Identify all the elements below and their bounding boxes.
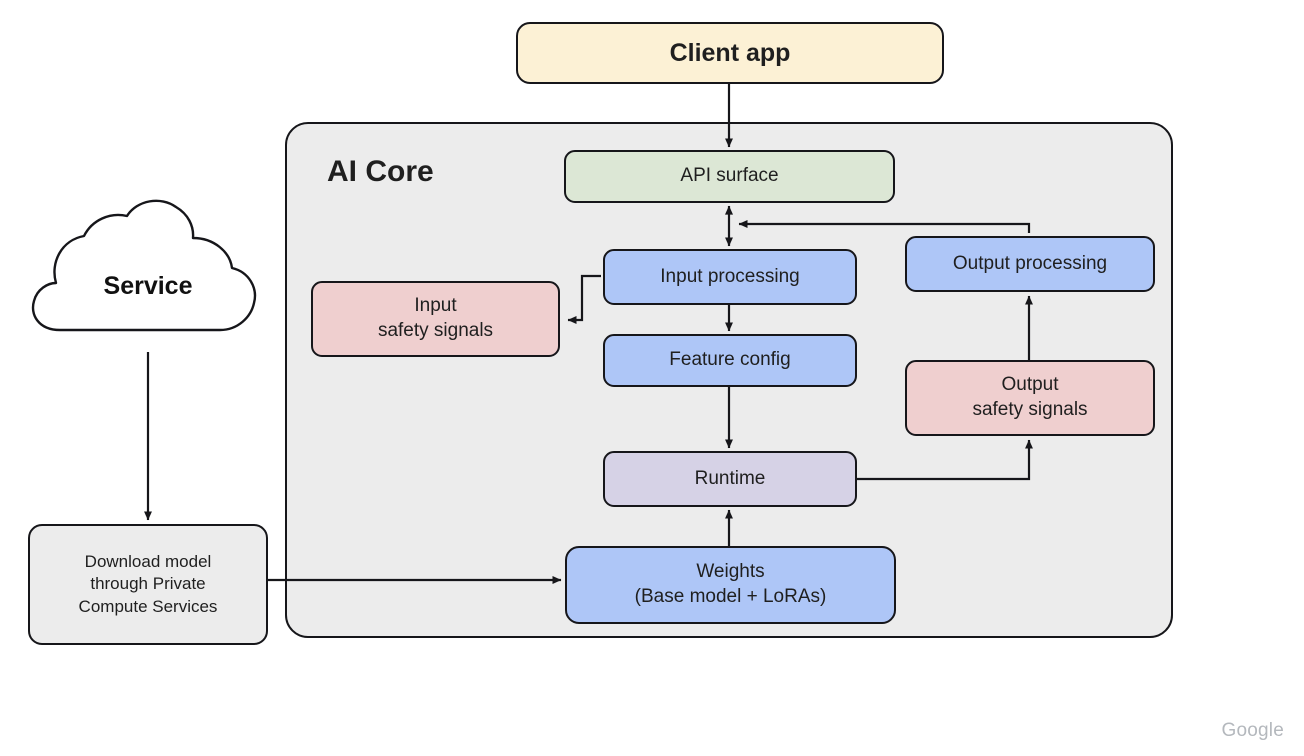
node-output-safety-signals-label: Output safety signals xyxy=(972,373,1087,422)
node-weights[interactable]: Weights (Base model + LoRAs) xyxy=(565,546,896,624)
ai-core-title-label: AI Core xyxy=(327,155,434,188)
node-service-cloud-label: Service xyxy=(104,272,193,300)
node-output-processing[interactable]: Output processing xyxy=(905,236,1155,292)
node-output-safety-signals[interactable]: Output safety signals xyxy=(905,360,1155,436)
google-watermark-label: Google xyxy=(1222,720,1284,741)
node-client-app[interactable]: Client app xyxy=(516,22,944,84)
node-download-model[interactable]: Download model through Private Compute S… xyxy=(28,524,268,645)
ai-core-title: AI Core xyxy=(327,155,434,189)
node-download-model-label: Download model through Private Compute S… xyxy=(79,551,218,617)
node-output-processing-label: Output processing xyxy=(953,252,1107,277)
node-weights-label: Weights (Base model + LoRAs) xyxy=(635,560,827,609)
node-client-app-label: Client app xyxy=(670,37,791,70)
node-feature-config-label: Feature config xyxy=(669,348,790,373)
node-input-processing[interactable]: Input processing xyxy=(603,249,857,305)
node-input-processing-label: Input processing xyxy=(660,265,799,290)
node-api-surface-label: API surface xyxy=(680,164,778,189)
node-api-surface[interactable]: API surface xyxy=(564,150,895,203)
architecture-diagram: Client app AI Core API surface Input pro… xyxy=(0,0,1304,756)
node-service-cloud-label-wrap: Service xyxy=(40,272,256,301)
node-service-cloud[interactable]: Service xyxy=(40,228,256,354)
node-runtime[interactable]: Runtime xyxy=(603,451,857,507)
node-input-safety-signals-label: Input safety signals xyxy=(378,294,493,343)
google-watermark: Google xyxy=(1222,720,1284,742)
node-feature-config[interactable]: Feature config xyxy=(603,334,857,387)
node-input-safety-signals[interactable]: Input safety signals xyxy=(311,281,560,357)
node-runtime-label: Runtime xyxy=(695,467,766,492)
